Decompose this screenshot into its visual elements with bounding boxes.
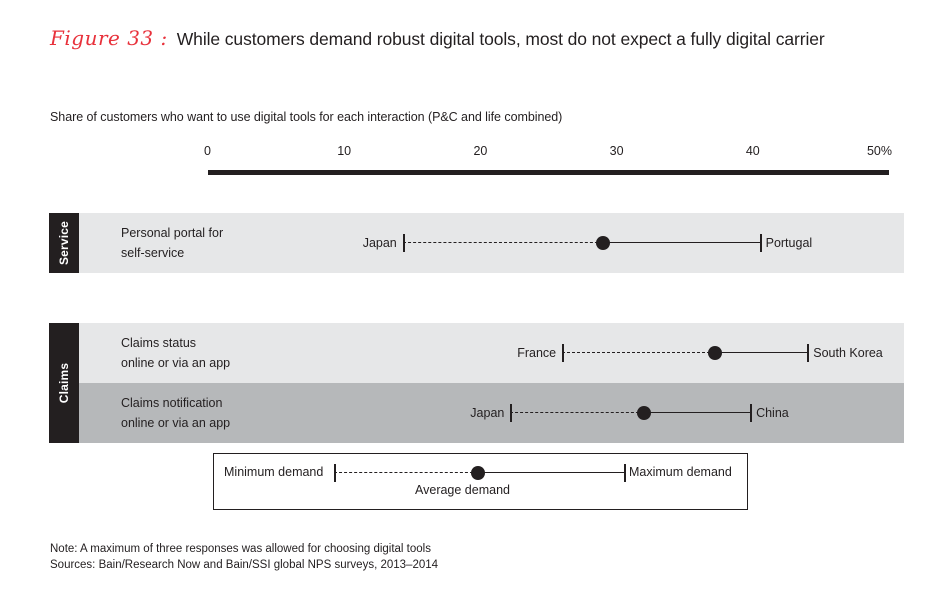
range-average-dot — [596, 236, 610, 250]
footnote-sources: Sources: Bain/Research Now and Bain/SSI … — [50, 558, 438, 574]
range-dashed-segment — [403, 242, 603, 243]
legend-min-cap — [334, 464, 336, 482]
x-axis-tick-50pct: 50% — [867, 144, 892, 158]
legend-dashed-segment — [334, 472, 478, 473]
x-axis-tick-10: 10 — [337, 144, 351, 158]
range-max-label: Portugal — [766, 236, 813, 250]
legend-maximum-label: Maximum demand — [629, 465, 732, 479]
range-min-label: Japan — [79, 236, 397, 250]
x-axis-bar — [208, 170, 889, 175]
range-min-label: Japan — [79, 406, 504, 420]
legend-solid-segment — [478, 472, 624, 473]
band-label-claims: Claims — [49, 323, 79, 443]
range-max-label: China — [756, 406, 789, 420]
range-max-cap — [750, 404, 752, 422]
range-solid-segment — [644, 412, 750, 413]
range-average-dot — [708, 346, 722, 360]
range-min-label: France — [79, 346, 556, 360]
chart-row: Claims statusonline or via an appFranceS… — [79, 323, 904, 383]
band-label-service: Service — [49, 213, 79, 273]
x-axis-tick-0: 0 — [204, 144, 211, 158]
band-rows: Claims statusonline or via an appFranceS… — [79, 323, 904, 443]
range-dashed-segment — [510, 412, 643, 413]
band-claims: ClaimsClaims statusonline or via an appF… — [49, 323, 904, 443]
band-label-text: Claims — [57, 363, 71, 404]
range-min-cap — [510, 404, 512, 422]
range-solid-segment — [715, 352, 808, 353]
band-label-text: Service — [57, 221, 71, 265]
x-axis-tick-30: 30 — [610, 144, 624, 158]
footnotes: Note: A maximum of three responses was a… — [50, 542, 438, 573]
legend-max-cap — [624, 464, 626, 482]
range-min-cap — [403, 234, 405, 252]
band-service: ServicePersonal portal forself-serviceJa… — [49, 213, 904, 273]
range-max-label: South Korea — [813, 346, 883, 360]
chart-plot-area: 01020304050% ServicePersonal portal fors… — [0, 0, 950, 609]
x-axis-tick-40: 40 — [746, 144, 760, 158]
legend-average-dot — [471, 466, 485, 480]
band-rows: Personal portal forself-serviceJapanPort… — [79, 213, 904, 273]
legend-minimum-label: Minimum demand — [224, 465, 323, 479]
chart-row: Claims notificationonline or via an appJ… — [79, 383, 904, 443]
legend-box: Minimum demand Maximum demand Average de… — [213, 453, 748, 510]
legend-average-label: Average demand — [214, 483, 747, 497]
range-max-cap — [760, 234, 762, 252]
range-max-cap — [807, 344, 809, 362]
x-axis-tick-20: 20 — [473, 144, 487, 158]
range-dashed-segment — [562, 352, 715, 353]
range-average-dot — [637, 406, 651, 420]
chart-row: Personal portal forself-serviceJapanPort… — [79, 213, 904, 273]
range-min-cap — [562, 344, 564, 362]
footnote-note: Note: A maximum of three responses was a… — [50, 542, 438, 558]
range-solid-segment — [603, 242, 760, 243]
